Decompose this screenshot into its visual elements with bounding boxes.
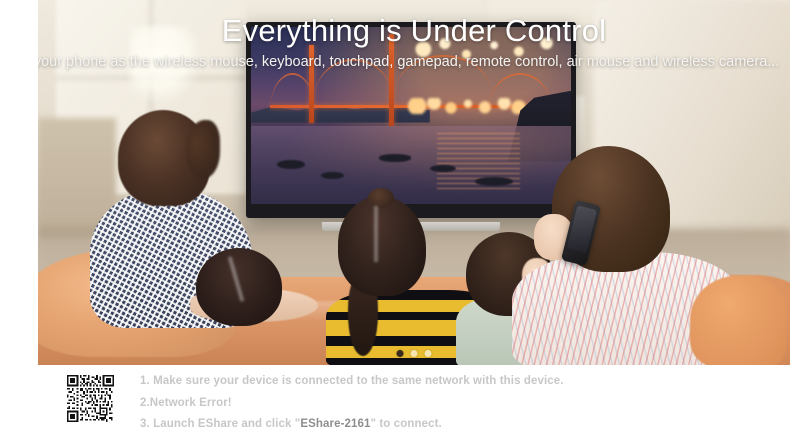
person-girl2-head <box>338 196 426 296</box>
bridge-tower <box>389 34 394 126</box>
carousel-dot-3[interactable] <box>425 350 432 357</box>
carousel-dots[interactable] <box>397 350 432 357</box>
instruction-steps: 1. Make sure your device is connected to… <box>140 371 564 436</box>
shore-rock <box>277 160 306 169</box>
step3-prefix: 3. Launch EShare and click " <box>140 418 300 430</box>
city-lights <box>405 98 527 114</box>
eshare-connect-screen: Everything is Under Control Use your pho… <box>0 0 807 446</box>
television <box>246 22 576 218</box>
qr-code[interactable] <box>67 375 114 422</box>
person-mother-hair <box>186 120 220 178</box>
tv-screen-image <box>251 27 571 204</box>
bridge-cable <box>315 59 392 97</box>
connect-instructions-panel: 1. Make sure your device is connected to… <box>0 365 807 446</box>
shore-rock <box>379 154 411 161</box>
carousel-dot-1[interactable] <box>397 350 404 357</box>
bridge-tower <box>309 45 314 123</box>
window-light-glow <box>130 26 202 104</box>
person-father-shoulder <box>690 276 786 365</box>
device-name: EShare-2161 <box>300 418 370 430</box>
instruction-step-2: 2.Network Error! <box>140 393 564 415</box>
instruction-step-1: 1. Make sure your device is connected to… <box>140 371 564 393</box>
hero-carousel[interactable]: Everything is Under Control Use your pho… <box>38 0 790 365</box>
carousel-dot-2[interactable] <box>411 350 418 357</box>
qr-code-icon[interactable] <box>67 375 114 422</box>
person-girl2-hair-bun <box>368 188 394 208</box>
person-girl2-hair-part <box>374 206 378 262</box>
step3-suffix: " to connect. <box>371 418 442 430</box>
instruction-step-3: 3. Launch EShare and click "EShare-2161"… <box>140 414 564 436</box>
